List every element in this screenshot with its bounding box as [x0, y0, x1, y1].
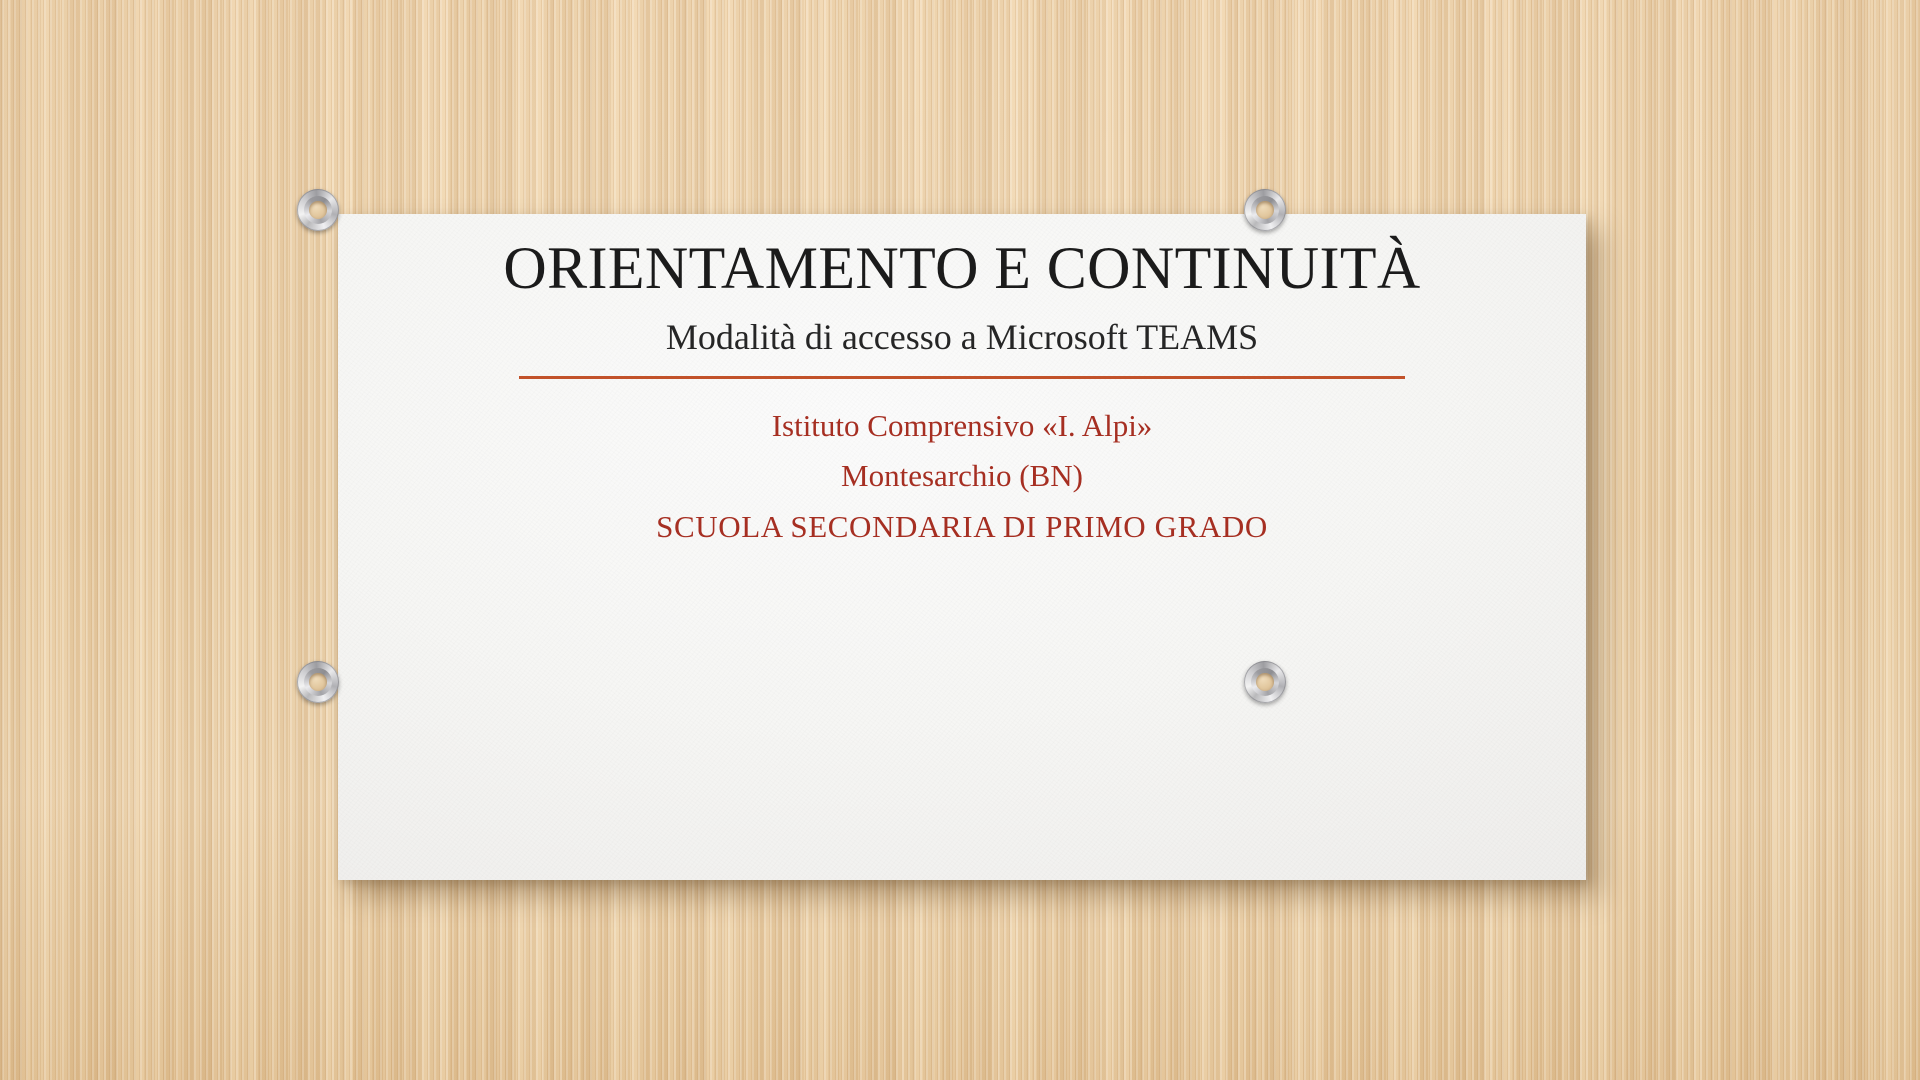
screw-hole [309, 673, 327, 691]
organization-block: Istituto Comprensivo «I. Alpi» Montesarc… [402, 401, 1522, 552]
presentation-slide: ORIENTAMENTO E CONTINUITÀ Modalità di ac… [0, 0, 1920, 1080]
screw-hole [309, 201, 327, 219]
organization-line-school-name: Istituto Comprensivo «I. Alpi» [402, 401, 1522, 451]
organization-line-school-level: SCUOLA SECONDARIA DI PRIMO GRADO [402, 502, 1522, 552]
organization-line-location: Montesarchio (BN) [402, 451, 1522, 501]
screw-icon-top-left [297, 189, 339, 231]
divider-rule [519, 376, 1405, 379]
slide-subtitle: Modalità di accesso a Microsoft TEAMS [432, 317, 1492, 358]
slide-title: ORIENTAMENTO E CONTINUITÀ [462, 236, 1462, 301]
screw-icon-bottom-left [297, 661, 339, 703]
slide-content: ORIENTAMENTO E CONTINUITÀ Modalità di ac… [338, 214, 1586, 880]
